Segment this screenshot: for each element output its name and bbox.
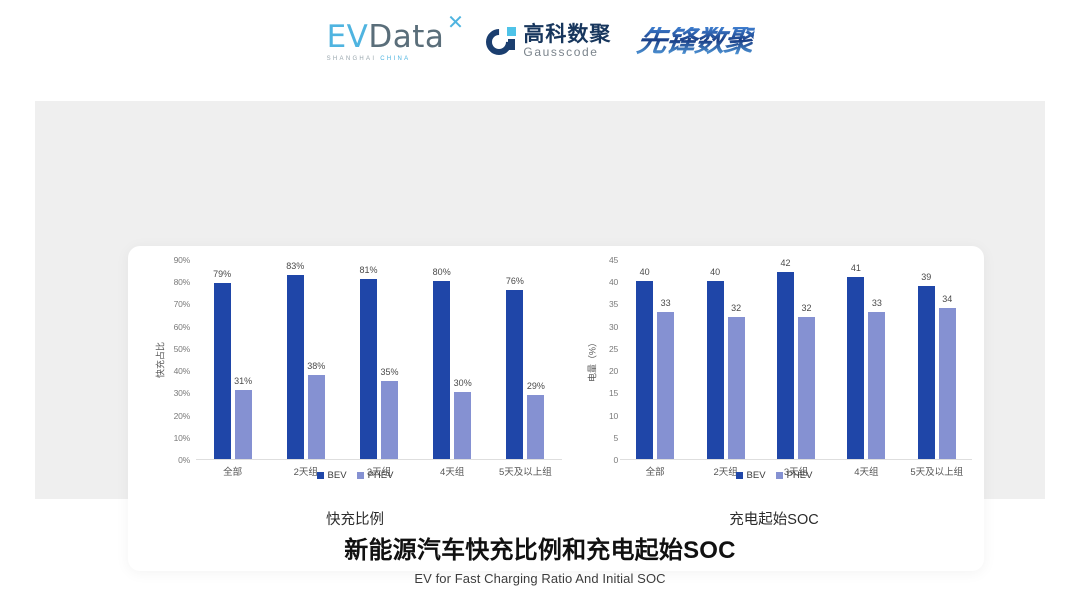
bar-group: 79%31%	[196, 260, 269, 459]
y-tick-right: 0	[584, 455, 618, 465]
y-tick-left: 70%	[156, 299, 190, 309]
y-tick-right: 20	[584, 366, 618, 376]
logo-gausscode: 高科数聚 Gausscode	[486, 24, 611, 59]
content-panel: 快充占比 0%10%20%30%40%50%60%70%80%90% 79%31…	[35, 101, 1045, 499]
bar-group: 83%38%	[269, 260, 342, 459]
y-tick-right: 10	[584, 411, 618, 421]
bar-value-label: 29%	[527, 381, 545, 391]
gausscode-mark-icon	[486, 27, 516, 57]
chart-initial-soc: 电量（%） 051015202530354045 4033全部40322天组42…	[568, 246, 980, 571]
page-root: EVData ✕ SHANGHAI CHINA 高科数聚 Gausscode 先…	[0, 0, 1080, 608]
plot-wrapper-right: 电量（%） 051015202530354045 4033全部40322天组42…	[568, 260, 980, 460]
bar-phev: 30%	[454, 392, 471, 459]
bar-phev: 34	[939, 308, 956, 459]
charts-card: 快充占比 0%10%20%30%40%50%60%70%80%90% 79%31…	[128, 246, 984, 571]
y-tick-left: 30%	[156, 388, 190, 398]
bar-group: 4033	[620, 260, 690, 459]
y-tick-left: 10%	[156, 433, 190, 443]
bar-value-label: 81%	[359, 265, 377, 275]
bar-phev: 38%	[308, 375, 325, 459]
bar-phev: 32	[728, 317, 745, 459]
legend-right: BEV PHEV	[568, 470, 980, 481]
y-tick-right: 5	[584, 433, 618, 443]
page-subtitle: EV for Fast Charging Ratio And Initial S…	[0, 571, 1080, 586]
bar-bev: 81%	[360, 279, 377, 459]
legend-label-bev: BEV	[747, 470, 766, 481]
legend-item-bev-left: BEV	[317, 470, 347, 481]
bar-group: 81%35%	[342, 260, 415, 459]
bar-phev: 33	[657, 312, 674, 459]
logo-evdata: EVData ✕ SHANGHAI CHINA	[327, 22, 461, 62]
evdata-data-text: Data	[368, 19, 444, 55]
legend-left: BEV PHEV	[140, 470, 570, 481]
evdata-ev-text: EV	[327, 19, 369, 55]
legend-swatch-bev-icon	[317, 472, 324, 479]
chart-title-left: 快充比例	[140, 508, 570, 529]
footer-titles: 新能源汽车快充比例和充电起始SOC EV for Fast Charging R…	[0, 530, 1080, 586]
bar-phev: 32	[798, 317, 815, 459]
legend-swatch-phev-icon	[776, 472, 783, 479]
bar-value-label: 79%	[213, 269, 231, 279]
y-tick-right: 15	[584, 388, 618, 398]
bar-bev: 40	[636, 281, 653, 459]
evdata-x-icon: ✕	[447, 12, 464, 32]
y-tick-right: 35	[584, 299, 618, 309]
bar-phev: 33	[868, 312, 885, 459]
gausscode-cn-name: 高科数聚	[523, 24, 611, 46]
y-tick-left: 80%	[156, 277, 190, 287]
chart-fast-charging-ratio: 快充占比 0%10%20%30%40%50%60%70%80%90% 79%31…	[140, 246, 570, 571]
bar-value-label: 35%	[380, 367, 398, 377]
bar-bev: 41	[847, 277, 864, 459]
bar-value-label: 34	[942, 294, 952, 304]
bar-group: 3934	[902, 260, 972, 459]
legend-item-bev-right: BEV	[736, 470, 766, 481]
bar-group: 4232	[761, 260, 831, 459]
legend-label-phev: PHEV	[787, 470, 813, 481]
bar-value-label: 38%	[307, 361, 325, 371]
bar-group: 4133	[831, 260, 901, 459]
bar-value-label: 30%	[454, 378, 472, 388]
bar-value-label: 40	[640, 267, 650, 277]
y-axis-ticks-right: 051015202530354045	[578, 260, 618, 460]
bar-bev: 76%	[506, 290, 523, 459]
bar-group: 4032	[690, 260, 760, 459]
y-tick-left: 60%	[156, 322, 190, 332]
bar-value-label: 83%	[286, 261, 304, 271]
legend-item-phev-right: PHEV	[776, 470, 813, 481]
legend-swatch-phev-icon	[357, 472, 364, 479]
evdata-tagline-shanghai: SHANGHAI	[327, 56, 377, 62]
bar-value-label: 33	[661, 298, 671, 308]
bar-value-label: 32	[801, 303, 811, 313]
logo-xianfeng: 先锋数聚	[635, 27, 755, 57]
bar-bev: 39	[918, 286, 935, 459]
plot-area-right: 4033全部40322天组42323天组41334天组39345天及以上组	[620, 260, 972, 460]
evdata-wordmark: EVData ✕	[327, 22, 461, 53]
legend-swatch-bev-icon	[736, 472, 743, 479]
plot-wrapper-left: 快充占比 0%10%20%30%40%50%60%70%80%90% 79%31…	[140, 260, 570, 460]
chart-title-right: 充电起始SOC	[568, 508, 980, 529]
legend-label-bev: BEV	[328, 470, 347, 481]
bar-group: 80%30%	[416, 260, 489, 459]
bar-value-label: 31%	[234, 376, 252, 386]
y-tick-right: 30	[584, 322, 618, 332]
legend-label-phev: PHEV	[368, 470, 394, 481]
bar-value-label: 42	[780, 258, 790, 268]
y-tick-left: 0%	[156, 455, 190, 465]
bar-value-label: 39	[921, 272, 931, 282]
bar-value-label: 32	[731, 303, 741, 313]
bar-bev: 40	[707, 281, 724, 459]
gausscode-en-name: Gausscode	[523, 46, 598, 59]
evdata-tagline-china: CHINA	[380, 56, 410, 62]
y-tick-right: 25	[584, 344, 618, 354]
evdata-tagline: SHANGHAI CHINA	[327, 56, 411, 62]
bar-value-label: 41	[851, 263, 861, 273]
y-tick-left: 40%	[156, 366, 190, 376]
bar-phev: 35%	[381, 381, 398, 459]
y-axis-ticks-left: 0%10%20%30%40%50%60%70%80%90%	[150, 260, 190, 460]
bar-bev: 80%	[433, 281, 450, 459]
y-tick-left: 50%	[156, 344, 190, 354]
plot-area-left: 79%31%全部83%38%2天组81%35%3天组80%30%4天组76%29…	[196, 260, 562, 460]
gausscode-text: 高科数聚 Gausscode	[523, 24, 611, 59]
legend-item-phev-left: PHEV	[357, 470, 394, 481]
bar-phev: 29%	[527, 395, 544, 459]
y-tick-right: 40	[584, 277, 618, 287]
page-title: 新能源汽车快充比例和充电起始SOC	[0, 530, 1080, 565]
bar-bev: 83%	[287, 275, 304, 459]
bar-group: 76%29%	[489, 260, 562, 459]
bar-bev: 42	[777, 272, 794, 459]
logo-bar: EVData ✕ SHANGHAI CHINA 高科数聚 Gausscode 先…	[0, 22, 1080, 62]
bar-phev: 31%	[235, 390, 252, 459]
y-tick-right: 45	[584, 255, 618, 265]
y-tick-left: 20%	[156, 411, 190, 421]
bar-value-label: 76%	[506, 276, 524, 286]
bar-value-label: 40	[710, 267, 720, 277]
bar-value-label: 33	[872, 298, 882, 308]
bar-bev: 79%	[214, 283, 231, 459]
y-tick-left: 90%	[156, 255, 190, 265]
bar-value-label: 80%	[433, 267, 451, 277]
